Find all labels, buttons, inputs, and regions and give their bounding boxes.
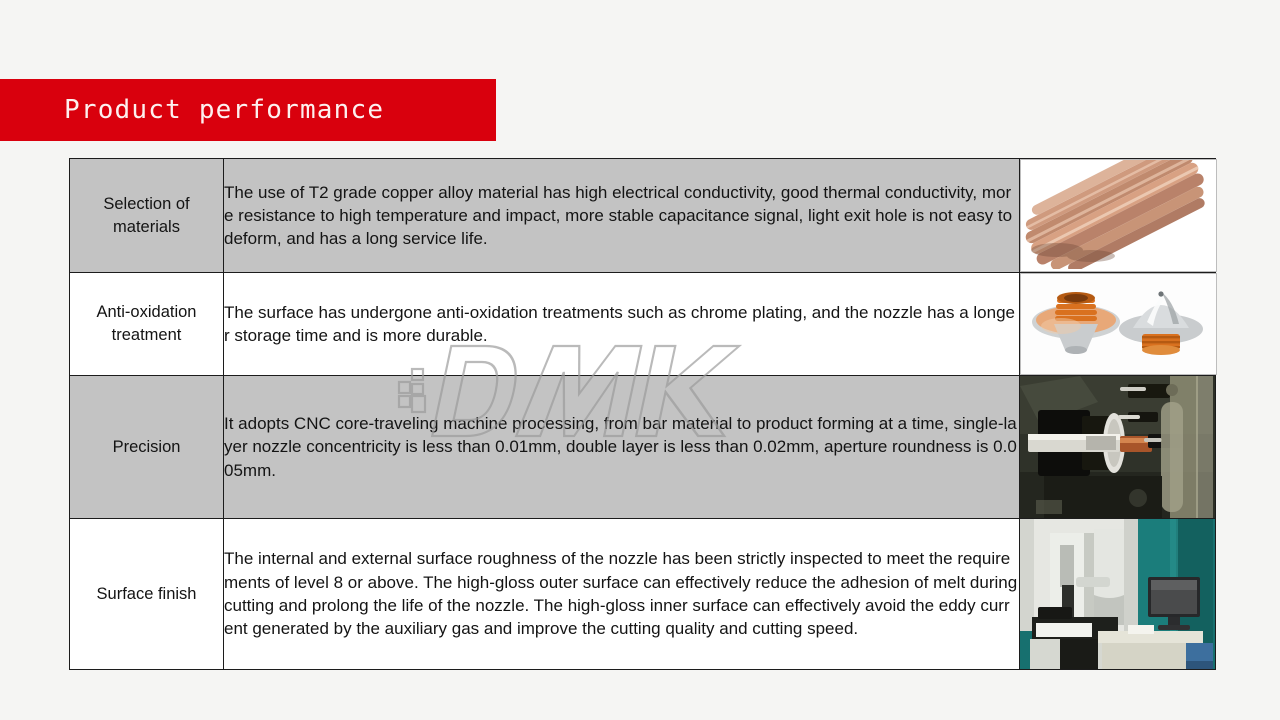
row-image-cell (1020, 519, 1216, 670)
nozzles-illustration (1021, 274, 1214, 372)
page-header-banner: Product performance (0, 79, 496, 141)
row-label-anti-oxidation-treatment: Anti-oxidation treatment (70, 273, 224, 376)
copper-rods-illustration (1021, 160, 1214, 269)
row-description-precision: It adopts CNC core-traveling machine pro… (224, 376, 1020, 519)
row-image-cell (1020, 376, 1216, 519)
product-performance-table: Selection of materials The use of T2 gra… (69, 158, 1216, 670)
cnc-machining-photo (1020, 376, 1215, 518)
measuring-equipment-photo (1020, 519, 1215, 669)
row-label-surface-finish: Surface finish (70, 519, 224, 670)
row-description-surface-finish: The internal and external surface roughn… (224, 519, 1020, 670)
row-description-anti-oxidation-treatment: The surface has undergone anti-oxidation… (224, 273, 1020, 376)
copper-rods-photo (1020, 159, 1217, 272)
table-body: Selection of materials The use of T2 gra… (70, 159, 1216, 670)
table-row: Precision It adopts CNC core-traveling m… (70, 376, 1216, 519)
row-label-precision: Precision (70, 376, 224, 519)
table-row: Surface finish The internal and external… (70, 519, 1216, 670)
page-title: Product performance (64, 95, 384, 125)
table-row: Selection of materials The use of T2 gra… (70, 159, 1216, 273)
table-row: Anti-oxidation treatment The surface has… (70, 273, 1216, 376)
copper-and-chrome-nozzles-photo (1020, 273, 1217, 375)
cnc-machine-illustration (1020, 376, 1213, 518)
row-label-selection-of-materials: Selection of materials (70, 159, 224, 273)
row-image-cell (1020, 273, 1216, 376)
row-description-selection-of-materials: The use of T2 grade copper alloy materia… (224, 159, 1020, 273)
row-image-cell (1020, 159, 1216, 273)
metrology-lab-illustration (1020, 519, 1213, 669)
